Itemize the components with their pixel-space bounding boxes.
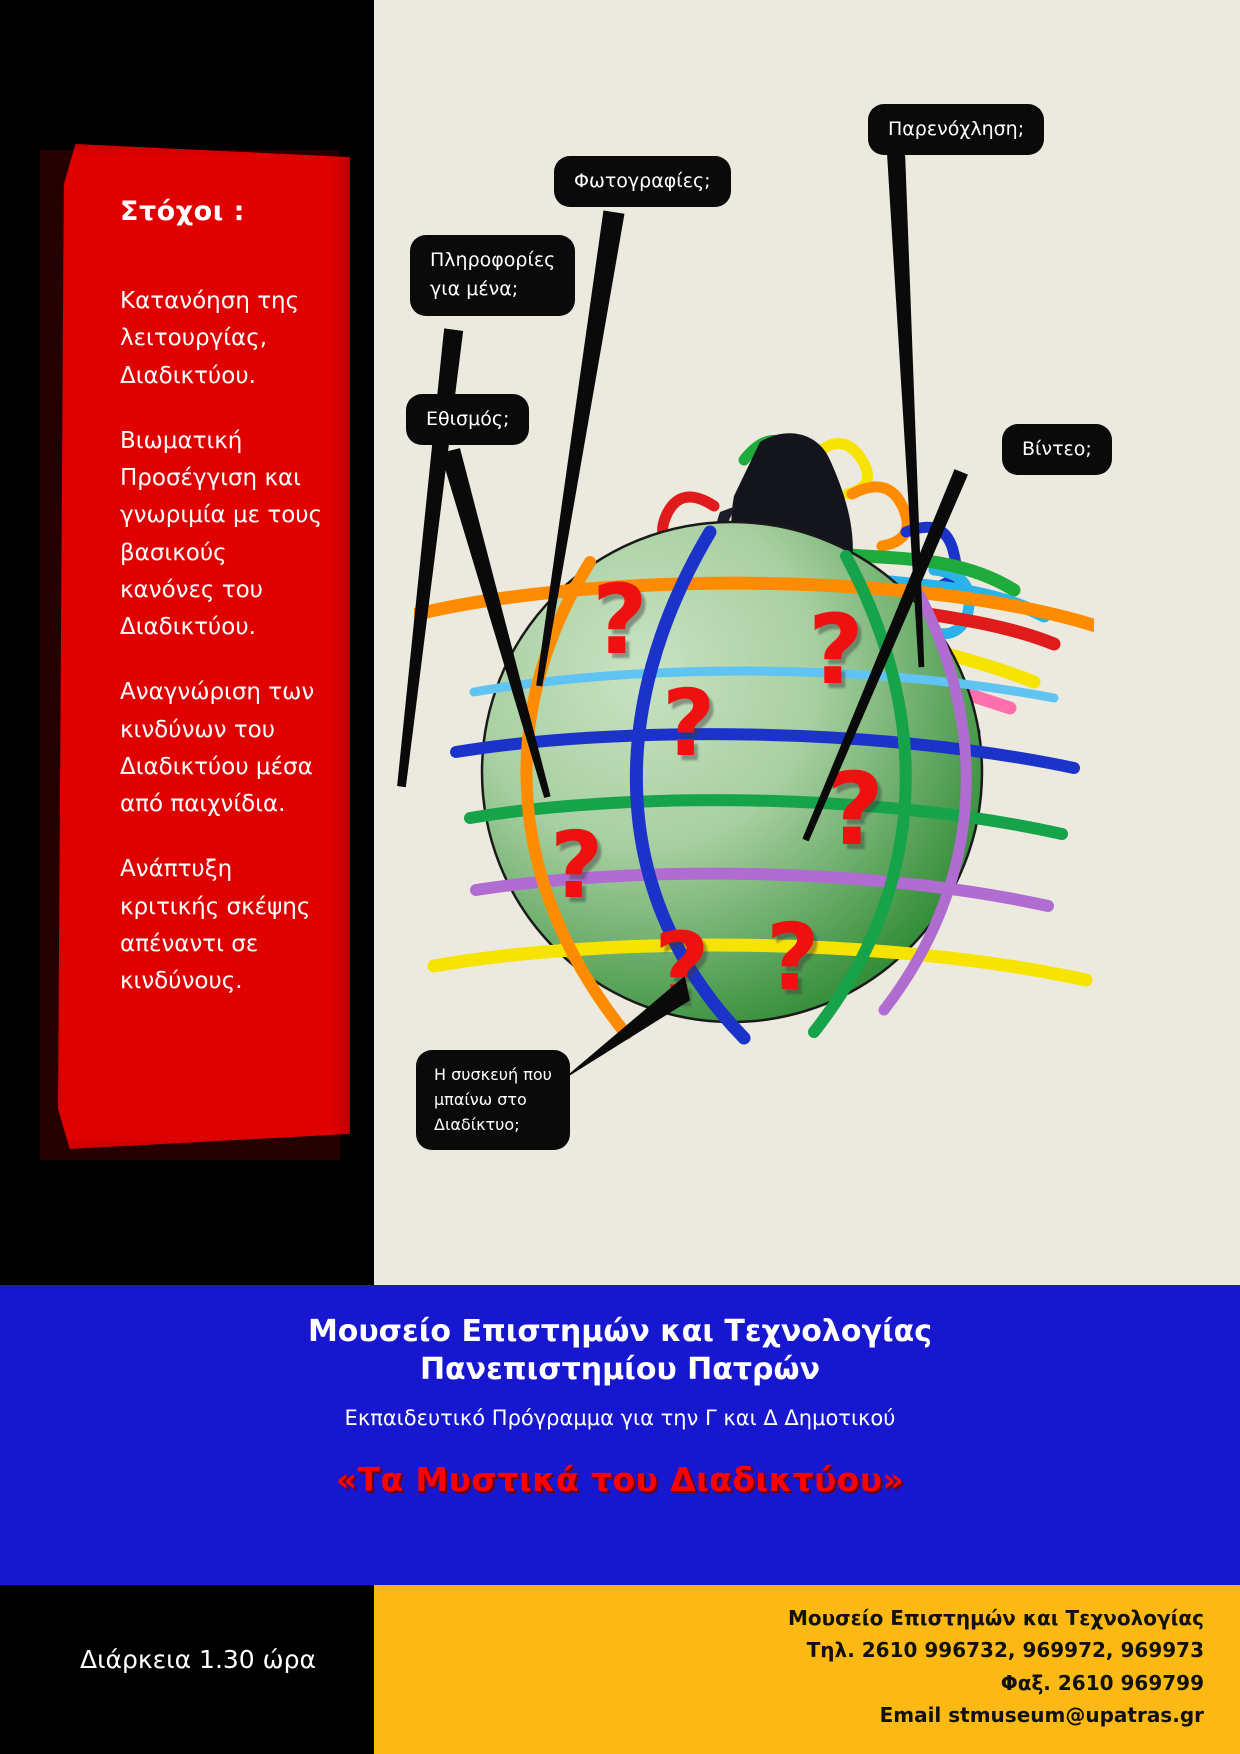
duration-label: Διάρκεια 1.30 ώρα bbox=[80, 1645, 316, 1674]
bubble-plirofories[interactable]: Πληροφορίες για μένα; bbox=[410, 235, 575, 316]
bubble-vinteo[interactable]: Βίντεο; bbox=[1002, 424, 1112, 475]
question-mark-5: ? bbox=[808, 602, 864, 698]
bubble-ethismos[interactable]: Εθισμός; bbox=[406, 394, 529, 445]
museum-title-line2: Πανεπιστημίου Πατρών bbox=[0, 1351, 1240, 1389]
bubble-parenochlisi[interactable]: Παρενόχληση; bbox=[868, 104, 1044, 155]
contact-phone: Τηλ. 2610 996732, 969972, 969973 bbox=[374, 1634, 1204, 1666]
goal-item: Ανάπτυξη κριτικής σκέψης απέναντι σε κιν… bbox=[120, 851, 326, 1000]
question-mark-2: ? bbox=[662, 678, 715, 770]
program-title: «Τα Μυστικά του Διαδικτύου» bbox=[0, 1430, 1240, 1499]
question-mark-1: ? bbox=[592, 572, 648, 668]
globe-illustration: ? ? ? ? ? ? ? bbox=[414, 420, 1094, 1060]
goal-item: Κατανόηση της λειτουργίας, Διαδικτύου. bbox=[120, 283, 326, 395]
contact-footer: Μουσείο Επιστημών και Τεχνολογίας Τηλ. 2… bbox=[374, 1585, 1240, 1754]
question-mark-3: ? bbox=[550, 820, 603, 912]
illustration-panel: ? ? ? ? ? ? ? Παρενόχληση; Φωτογραφίες; … bbox=[374, 0, 1240, 1285]
goal-item: Αναγνώριση των κινδύνων του Διαδικτύου μ… bbox=[120, 674, 326, 823]
goals-box: Στόχοι : Κατανόηση της λειτουργίας, Διαδ… bbox=[58, 144, 350, 1149]
museum-title-line1: Μουσείο Επιστημών και Τεχνολογίας bbox=[0, 1285, 1240, 1351]
blue-footer-band: Μουσείο Επιστημών και Τεχνολογίας Πανεπι… bbox=[0, 1285, 1240, 1585]
contact-email[interactable]: Email stmuseum@upatras.gr bbox=[374, 1699, 1204, 1731]
contact-museum-name: Μουσείο Επιστημών και Τεχνολογίας bbox=[374, 1602, 1204, 1634]
goal-item: Βιωματική Προσέγγιση και γνωριμία με του… bbox=[120, 423, 326, 647]
contact-fax: Φαξ. 2610 969799 bbox=[374, 1667, 1204, 1699]
poster-root: ? ? ? ? ? ? ? Παρενόχληση; Φωτογραφίες; … bbox=[0, 0, 1240, 1754]
program-subtitle: Εκπαιδευτικό Πρόγραμμα για την Γ και Δ Δ… bbox=[0, 1390, 1240, 1430]
bubble-fotografies[interactable]: Φωτογραφίες; bbox=[554, 156, 731, 207]
goals-title: Στόχοι : bbox=[120, 196, 326, 227]
bubble-siskevi[interactable]: Η συσκευή που μπαίνω στο Διαδίκτυο; bbox=[416, 1050, 570, 1150]
question-mark-7: ? bbox=[766, 912, 819, 1004]
